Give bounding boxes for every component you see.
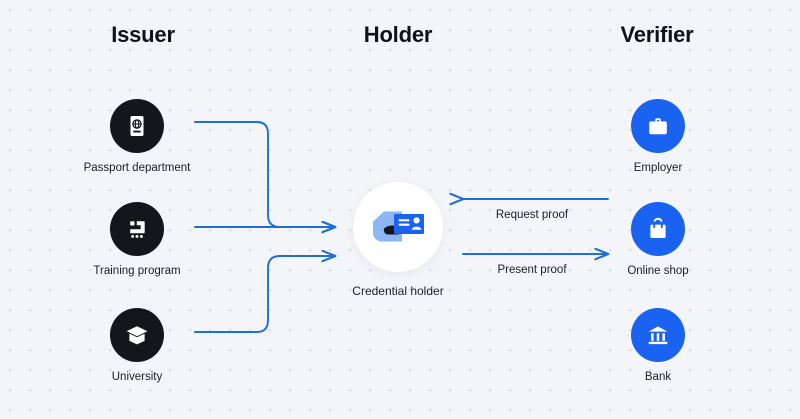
node-credential-holder[interactable]: Credential holder xyxy=(313,182,483,298)
shopping-bag-icon xyxy=(643,214,673,244)
online-shop-circle xyxy=(631,202,685,256)
bank-label: Bank xyxy=(573,371,743,385)
training-program-label: Training program xyxy=(52,265,222,279)
node-employer[interactable]: Employer xyxy=(573,99,743,176)
flow-label-present-proof: Present proof xyxy=(497,264,566,276)
node-university[interactable]: University xyxy=(52,308,222,385)
node-bank[interactable]: Bank xyxy=(573,308,743,385)
bank-icon xyxy=(643,320,673,350)
briefcase-icon xyxy=(643,111,673,141)
online-shop-label: Online shop xyxy=(573,265,743,279)
bank-circle xyxy=(631,308,685,362)
node-online-shop[interactable]: Online shop xyxy=(573,202,743,279)
id-card-in-hand-icon xyxy=(368,203,428,251)
university-icon xyxy=(122,320,152,350)
training-icon xyxy=(123,215,151,243)
credential-holder-circle xyxy=(353,182,443,272)
passport-icon xyxy=(123,112,151,140)
employer-label: Employer xyxy=(573,162,743,176)
column-title-holder: Holder xyxy=(364,24,432,46)
diagram-canvas: Issuer Holder Verifier xyxy=(0,0,800,419)
column-title-verifier: Verifier xyxy=(620,24,693,46)
node-training-program[interactable]: Training program xyxy=(52,202,222,279)
credential-holder-label: Credential holder xyxy=(313,284,483,298)
node-passport-department[interactable]: Passport department xyxy=(52,99,222,176)
column-title-issuer: Issuer xyxy=(111,24,175,46)
training-program-circle xyxy=(110,202,164,256)
employer-circle xyxy=(631,99,685,153)
university-label: University xyxy=(52,371,222,385)
passport-department-circle xyxy=(110,99,164,153)
passport-department-label: Passport department xyxy=(52,162,222,176)
university-circle xyxy=(110,308,164,362)
flow-label-request-proof: Request proof xyxy=(496,209,568,221)
